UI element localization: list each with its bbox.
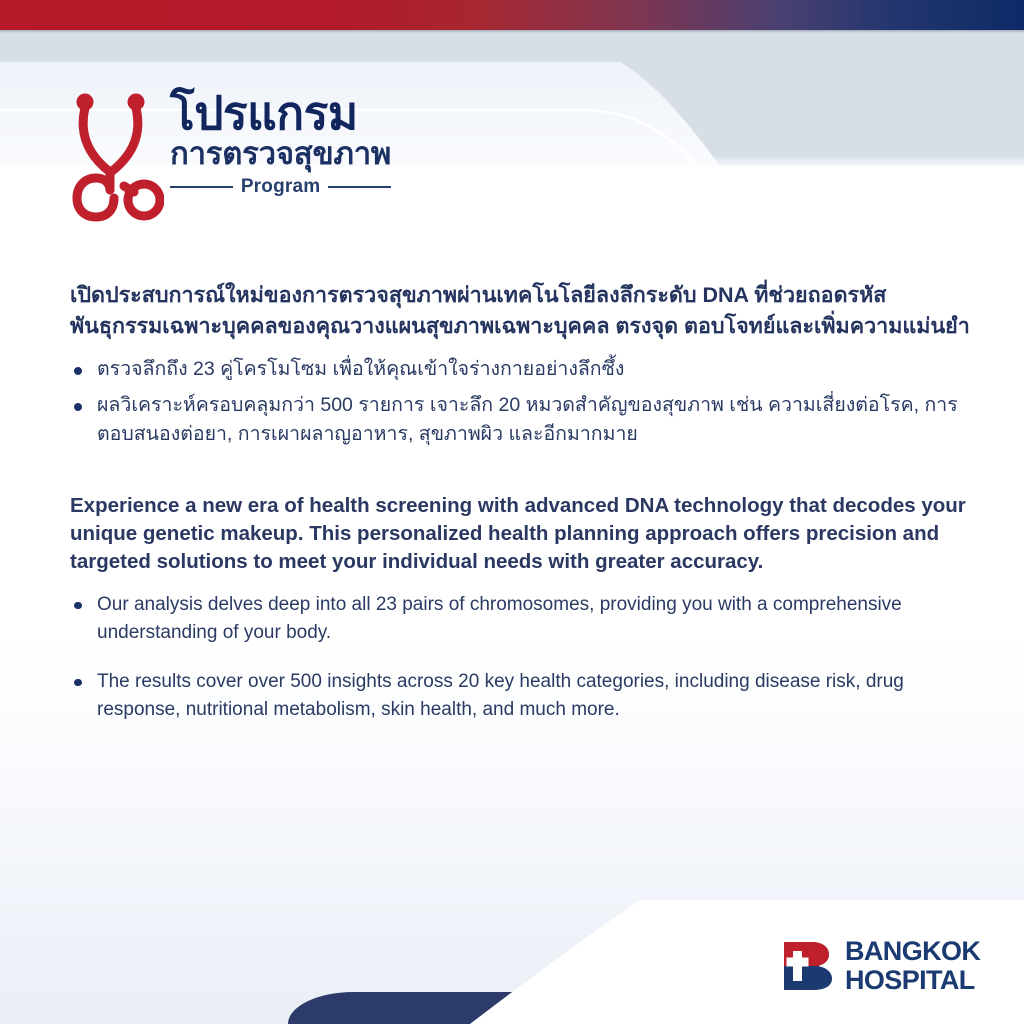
content-body: เปิดประสบการณ์ใหม่ของการตรวจสุขภาพผ่านเท…	[70, 280, 972, 745]
list-item: The results cover over 500 insights acro…	[70, 668, 972, 725]
top-gradient-bar	[0, 0, 1024, 30]
logo-program-label: Program	[241, 176, 321, 198]
english-paragraph: Experience a new era of health screening…	[70, 492, 970, 577]
bangkok-hospital-wordmark: BANGKOK HOSPITAL	[845, 938, 980, 994]
logo-rule-left	[170, 186, 233, 188]
brand-word-hospital: HOSPITAL	[845, 967, 980, 994]
list-item: ตรวจลึกถึง 23 คู่โครโมโซม เพื่อให้คุณเข้…	[70, 355, 972, 385]
logo-subtitle-thai: การตรวจสุขภาพ	[170, 138, 391, 171]
thai-bullet-list: ตรวจลึกถึง 23 คู่โครโมโซม เพื่อให้คุณเข้…	[70, 355, 972, 450]
list-item: ผลวิเคราะห์ครอบคลุมกว่า 500 รายการ เจาะล…	[70, 391, 972, 450]
poster-page: โปรแกรม การตรวจสุขภาพ Program เปิดประสบก…	[0, 0, 1024, 1024]
thai-heading: เปิดประสบการณ์ใหม่ของการตรวจสุขภาพผ่านเท…	[70, 280, 970, 341]
logo-program-row: Program	[170, 176, 391, 198]
program-logo-text: โปรแกรม การตรวจสุขภาพ Program	[170, 86, 391, 198]
top-bar-shadow	[0, 30, 1024, 33]
bangkok-hospital-b-mark-icon	[782, 940, 834, 992]
list-item: Our analysis delves deep into all 23 pai…	[70, 591, 972, 648]
stethoscope-icon	[68, 86, 164, 222]
logo-title-thai: โปรแกรม	[170, 90, 358, 137]
english-bullet-list: Our analysis delves deep into all 23 pai…	[70, 591, 972, 725]
brand-word-bangkok: BANGKOK	[845, 938, 980, 965]
program-logo-lockup: โปรแกรม การตรวจสุขภาพ Program	[68, 86, 408, 228]
bangkok-hospital-logo: BANGKOK HOSPITAL	[782, 938, 988, 994]
logo-rule-right	[328, 186, 391, 188]
